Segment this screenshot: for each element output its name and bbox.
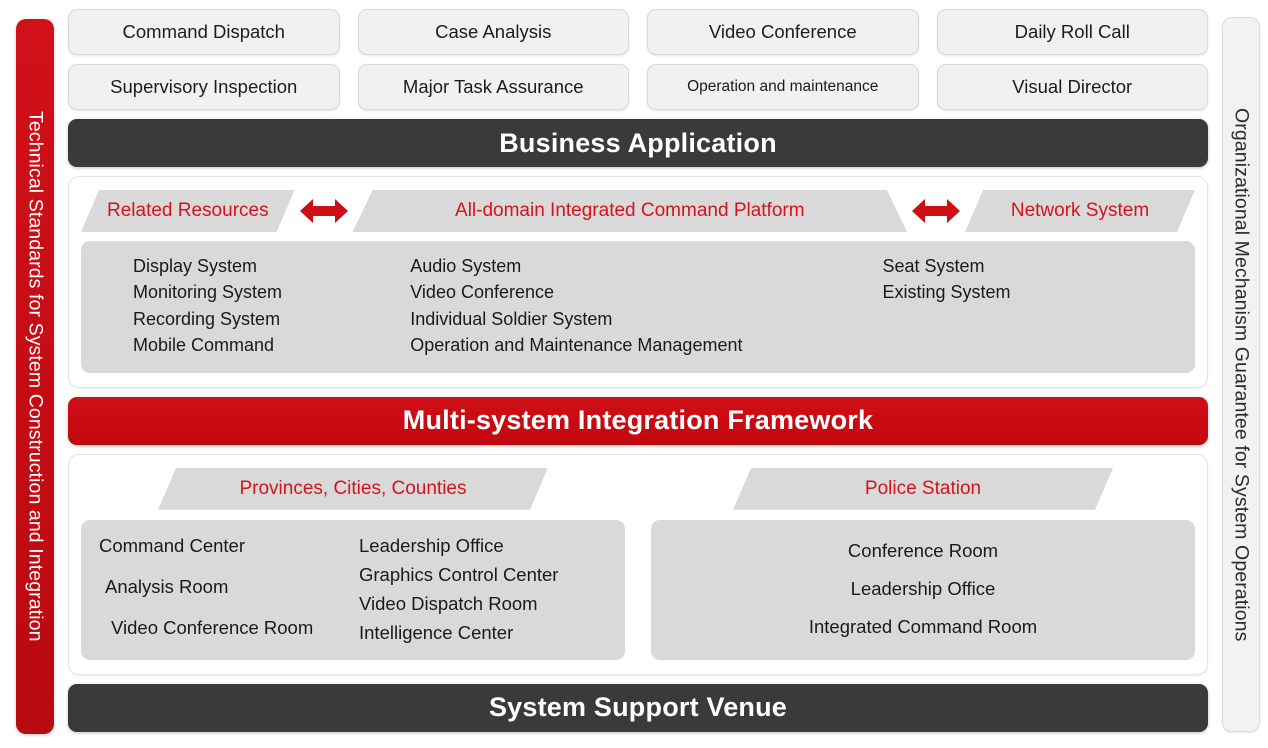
venue-item: Analysis Room	[99, 575, 353, 600]
banner-network-system: Network System	[965, 190, 1195, 232]
system-item: Existing System	[882, 279, 1195, 305]
band-multi-system-integration-framework: Multi-system Integration Framework	[68, 397, 1208, 445]
right-side-rail: Organizational Mechanism Guarantee for S…	[1222, 17, 1260, 732]
app-button-major-task-assurance[interactable]: Major Task Assurance	[358, 64, 630, 110]
business-application-buttons: Command Dispatch Case Analysis Video Con…	[68, 9, 1208, 110]
system-item: Seat System	[882, 253, 1195, 279]
venue-right-box: Conference Room Leadership Office Integr…	[651, 520, 1195, 660]
right-rail-label: Organizational Mechanism Guarantee for S…	[1230, 108, 1253, 641]
banner-related-resources: Related Resources	[81, 190, 295, 232]
venue-item: Intelligence Center	[359, 621, 625, 646]
venue-panel: Provinces, Cities, Counties Command Cent…	[68, 454, 1208, 675]
center-column: Command Dispatch Case Analysis Video Con…	[54, 9, 1222, 740]
venue-left-group: Provinces, Cities, Counties Command Cent…	[81, 468, 625, 660]
banner-all-domain-integrated-command-platform: All-domain Integrated Command Platform	[353, 190, 907, 232]
venue-columns: Provinces, Cities, Counties Command Cent…	[81, 468, 1195, 660]
venue-item: Integrated Command Room	[809, 615, 1037, 640]
app-button-command-dispatch[interactable]: Command Dispatch	[68, 9, 340, 55]
venue-item: Leadership Office	[851, 577, 996, 602]
system-item: Individual Soldier System	[410, 306, 862, 332]
left-rail-label: Technical Standards for System Construct…	[24, 111, 47, 642]
system-item: Monitoring System	[133, 279, 390, 305]
venue-left-box: Command Center Analysis Room Video Confe…	[81, 520, 625, 660]
systems-column-1: Display System Monitoring System Recordi…	[81, 253, 390, 359]
venue-right-group: Police Station Conference Room Leadershi…	[651, 468, 1195, 660]
venue-item: Video Dispatch Room	[359, 592, 625, 617]
banner-provinces-cities-counties: Provinces, Cities, Counties	[158, 468, 548, 510]
band-business-application: Business Application	[68, 119, 1208, 167]
double-arrow-icon-right	[907, 196, 965, 226]
band-system-support-venue: System Support Venue	[68, 684, 1208, 732]
systems-column-2: Audio System Video Conference Individual…	[390, 253, 862, 359]
app-button-operation-and-maintenance[interactable]: Operation and maintenance	[647, 64, 919, 110]
architecture-diagram: Technical Standards for System Construct…	[0, 0, 1268, 748]
app-button-daily-roll-call[interactable]: Daily Roll Call	[937, 9, 1209, 55]
app-button-video-conference[interactable]: Video Conference	[647, 9, 919, 55]
banner-network-system-wrap: Network System	[965, 190, 1195, 232]
app-button-case-analysis[interactable]: Case Analysis	[358, 9, 630, 55]
venue-right-list: Conference Room Leadership Office Integr…	[651, 534, 1195, 646]
app-button-supervisory-inspection[interactable]: Supervisory Inspection	[68, 64, 340, 110]
banner-police-station-wrap: Police Station	[651, 468, 1195, 510]
venue-item: Leadership Office	[359, 534, 625, 559]
venue-item: Graphics Control Center	[359, 563, 625, 588]
venue-left-column-b: Leadership Office Graphics Control Cente…	[353, 534, 625, 646]
banner-command-platform-wrap: All-domain Integrated Command Platform	[353, 190, 907, 232]
app-button-visual-director[interactable]: Visual Director	[937, 64, 1209, 110]
left-side-rail: Technical Standards for System Construct…	[16, 19, 54, 734]
platform-panel: Related Resources All-domain Integrated …	[68, 176, 1208, 388]
platform-systems-box: Display System Monitoring System Recordi…	[81, 241, 1195, 373]
venue-left-column-a: Command Center Analysis Room Video Confe…	[81, 534, 353, 646]
system-item: Operation and Maintenance Management	[410, 332, 862, 358]
banner-related-resources-wrap: Related Resources	[81, 190, 295, 232]
system-item: Video Conference	[410, 279, 862, 305]
banner-police-station: Police Station	[733, 468, 1113, 510]
systems-column-3: Seat System Existing System	[862, 253, 1195, 359]
venue-item: Video Conference Room	[99, 616, 353, 641]
system-item: Recording System	[133, 306, 390, 332]
venue-item: Command Center	[99, 534, 353, 559]
system-item: Display System	[133, 253, 390, 279]
system-item: Audio System	[410, 253, 862, 279]
banner-provinces-wrap: Provinces, Cities, Counties	[81, 468, 625, 510]
double-arrow-icon-left	[295, 196, 353, 226]
venue-item: Conference Room	[848, 539, 998, 564]
platform-banner-row: Related Resources All-domain Integrated …	[81, 190, 1195, 232]
system-item: Mobile Command	[133, 332, 390, 358]
venue-left-two-columns: Command Center Analysis Room Video Confe…	[81, 534, 625, 646]
